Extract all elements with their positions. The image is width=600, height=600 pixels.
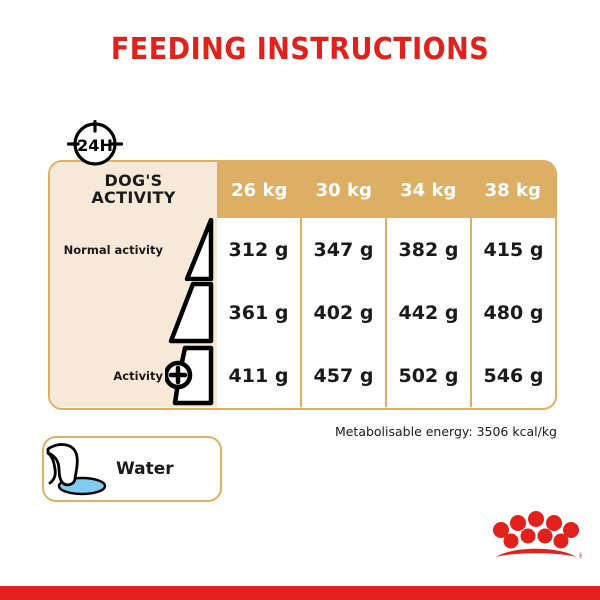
activity-high-plus-icon	[165, 344, 217, 407]
row-2-activity-cell	[50, 281, 217, 344]
row-3-value-1: 411 g	[217, 344, 300, 407]
water-pouring-jug-icon	[42, 439, 116, 499]
row-3-value-4: 546 g	[470, 344, 555, 407]
activity-medium-trapezoid-icon	[165, 281, 217, 344]
header-weight-col-4: 38 kg	[471, 162, 556, 218]
svg-text:®: ®	[578, 552, 582, 560]
feeding-table: DOG'S ACTIVITY 26 kg 30 kg 34 kg 38 kg N…	[48, 160, 557, 410]
table-header-row: DOG'S ACTIVITY 26 kg 30 kg 34 kg 38 kg	[50, 162, 555, 218]
row-2-value-1: 361 g	[217, 281, 300, 344]
water-label: Water	[116, 459, 174, 479]
row-1-value-4: 415 g	[470, 218, 555, 281]
row-2-value-3: 442 g	[385, 281, 470, 344]
row-3-activity-label: Activity	[113, 369, 163, 383]
table-row: Normal activity 312 g 347 g 382 g 415 g	[50, 218, 555, 281]
clock-24h-label: 24H	[77, 136, 113, 155]
row-2-value-4: 480 g	[470, 281, 555, 344]
royal-canin-crown-logo: ®	[490, 506, 582, 564]
bottom-red-bar	[0, 586, 600, 600]
row-1-value-3: 382 g	[385, 218, 470, 281]
table-row: Activity 411 g 457 g 502 g 546 g	[50, 344, 555, 407]
row-1-activity-label: Normal activity	[64, 243, 163, 257]
header-weight-col-2: 30 kg	[302, 162, 387, 218]
header-dogs-activity-line2: ACTIVITY	[91, 190, 175, 207]
page-title: FEEDING INSTRUCTIONS	[0, 32, 600, 67]
row-1-value-1: 312 g	[217, 218, 300, 281]
header-weight-col-3: 34 kg	[386, 162, 471, 218]
row-3-activity-cell: Activity	[50, 344, 217, 407]
row-1-value-2: 347 g	[300, 218, 385, 281]
row-2-value-2: 402 g	[300, 281, 385, 344]
row-1-activity-cell: Normal activity	[50, 218, 217, 281]
table-row: 361 g 402 g 442 g 480 g	[50, 281, 555, 344]
row-3-value-3: 502 g	[385, 344, 470, 407]
water-box: Water	[42, 436, 222, 502]
clock-24h-icon: 24H	[66, 120, 124, 166]
header-dogs-activity: DOG'S ACTIVITY	[50, 162, 217, 218]
row-3-value-2: 457 g	[300, 344, 385, 407]
header-weight-col-1: 26 kg	[217, 162, 302, 218]
activity-low-triangle-icon	[165, 218, 217, 281]
